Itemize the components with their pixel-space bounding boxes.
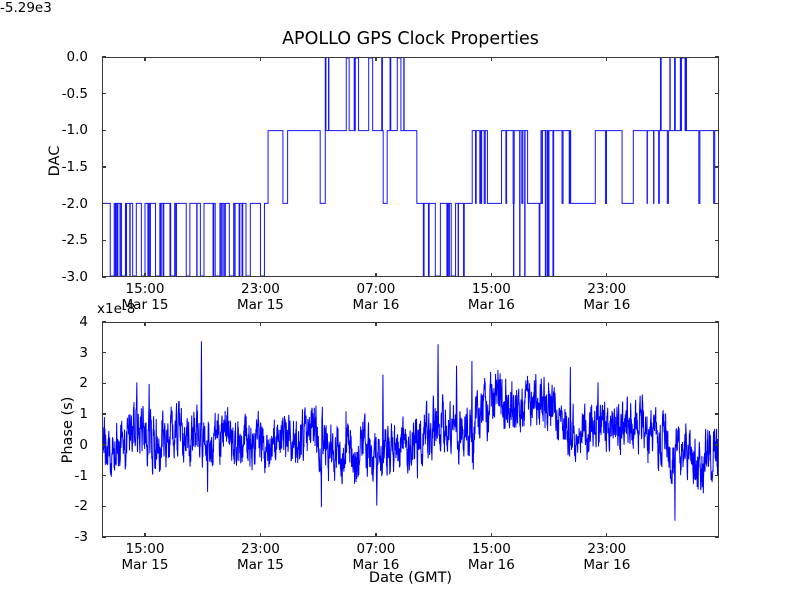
phase-y-tickmark [102, 413, 106, 414]
dac-y-tick: 0.0 [67, 49, 94, 65]
dac-y-tickmark [715, 240, 719, 241]
phase-y-tickmark [102, 475, 106, 476]
phase-x-tickmark [260, 533, 261, 537]
dac-y-tickmark [102, 130, 106, 131]
dac-y-tickmark [715, 93, 719, 94]
dac-y-tickmark [102, 93, 106, 94]
phase-y-tickmark [102, 352, 106, 353]
phase-plot-area [102, 322, 719, 537]
phase-y-tickmark [715, 413, 719, 414]
phase-y-tickmark [715, 475, 719, 476]
phase-y-tickmark [102, 536, 106, 537]
phase-x-tickmark [375, 322, 376, 326]
dac-y-tick: -1.5 [62, 159, 94, 175]
phase-y-tick: 3 [79, 345, 94, 361]
dac-y-offset-text: -5.29e3 [0, 0, 52, 16]
dac-x-tickmark [144, 57, 145, 61]
phase-y-tick: -3 [75, 529, 94, 545]
figure-title: APOLLO GPS Clock Properties [102, 29, 719, 49]
phase-y-tickmark [102, 506, 106, 507]
dac-y-tickmark [102, 56, 106, 57]
dac-y-tick: -2.5 [62, 232, 94, 248]
phase-y-offset-text: x1e-8 [97, 301, 135, 317]
phase-x-tickmark [491, 322, 492, 326]
phase-y-tickmark [715, 352, 719, 353]
dac-step-trace [103, 58, 718, 276]
dac-y-axis-label: DAC [47, 101, 63, 221]
matplotlib-figure: APOLLO GPS Clock Properties -5.29e3 DAC … [0, 0, 800, 600]
phase-y-axis-label: Phase (s) [60, 350, 76, 510]
dac-y-tickmark [715, 130, 719, 131]
phase-y-tickmark [102, 444, 106, 445]
phase-y-tickmark [715, 444, 719, 445]
dac-y-tickmark [715, 166, 719, 167]
dac-x-tickmark [606, 273, 607, 277]
phase-x-tickmark [606, 322, 607, 326]
dac-y-tickmark [102, 203, 106, 204]
phase-x-tick: 23:00Mar 16 [583, 541, 630, 573]
phase-y-tick: 1 [79, 406, 94, 422]
phase-y-tick: 0 [79, 437, 94, 453]
figure-x-axis-label: Date (GMT) [102, 570, 719, 586]
dac-x-tickmark [144, 273, 145, 277]
dac-x-tickmark [606, 57, 607, 61]
phase-y-tick: 2 [79, 375, 94, 391]
phase-y-tickmark [715, 383, 719, 384]
dac-x-tickmark [491, 273, 492, 277]
dac-x-tick: 23:00Mar 15 [237, 281, 284, 313]
phase-x-tick: 15:00Mar 15 [122, 541, 169, 573]
phase-y-tickmark [715, 506, 719, 507]
phase-x-tick: 23:00Mar 15 [237, 541, 284, 573]
phase-noise-trace [103, 323, 718, 536]
dac-y-tick: -0.5 [62, 86, 94, 102]
phase-y-tickmark [715, 321, 719, 322]
phase-y-tick: -1 [75, 468, 94, 484]
phase-x-tickmark [144, 322, 145, 326]
dac-y-tickmark [102, 276, 106, 277]
phase-y-tickmark [102, 321, 106, 322]
dac-y-tickmark [715, 276, 719, 277]
dac-x-tick: 07:00Mar 16 [352, 281, 399, 313]
dac-y-tickmark [715, 56, 719, 57]
phase-y-tickmark [715, 536, 719, 537]
dac-y-tick: -2.0 [62, 196, 94, 212]
phase-x-tickmark [375, 533, 376, 537]
dac-plot-area [102, 57, 719, 277]
phase-x-tickmark [606, 533, 607, 537]
dac-x-tickmark [491, 57, 492, 61]
phase-x-tickmark [260, 322, 261, 326]
dac-x-tickmark [260, 57, 261, 61]
dac-y-tick: -3.0 [62, 269, 94, 285]
dac-x-tick: 23:00Mar 16 [583, 281, 630, 313]
dac-x-tickmark [375, 57, 376, 61]
dac-y-tickmark [102, 240, 106, 241]
phase-x-tick: 07:00Mar 16 [352, 541, 399, 573]
phase-y-tick: 4 [79, 314, 94, 330]
phase-x-tickmark [144, 533, 145, 537]
dac-y-tickmark [715, 203, 719, 204]
dac-y-tickmark [102, 166, 106, 167]
phase-x-tick: 15:00Mar 16 [468, 541, 515, 573]
phase-x-tickmark [491, 533, 492, 537]
dac-x-tickmark [260, 273, 261, 277]
dac-x-tickmark [375, 273, 376, 277]
phase-y-tickmark [102, 383, 106, 384]
dac-x-tick: 15:00Mar 16 [468, 281, 515, 313]
dac-y-tick: -1.0 [62, 122, 94, 138]
phase-y-tick: -2 [75, 498, 94, 514]
